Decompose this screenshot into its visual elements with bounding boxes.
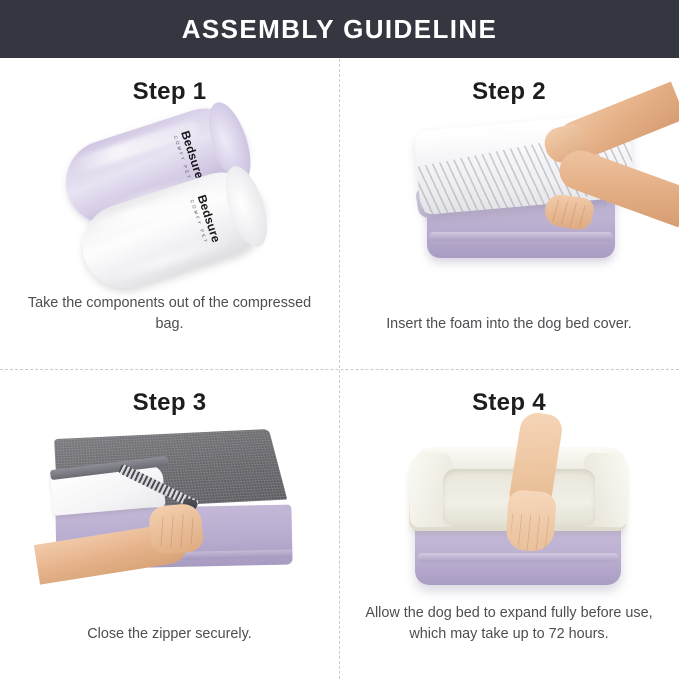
step-card-4: Step 4 Allow the dog bed to expand fully… [339, 369, 679, 679]
step-3-illustration [0, 421, 339, 631]
assembly-guideline-page: ASSEMBLY GUIDELINE Step 1 Bedsure COMFY … [0, 0, 679, 679]
step-3-caption: Close the zipper securely. [18, 624, 321, 645]
step-1-illustration: Bedsure COMFY PET Bedsure COMFY PET [0, 114, 339, 314]
step-1-caption: Take the components out of the compresse… [18, 293, 321, 335]
step-4-title: Step 4 [339, 389, 679, 417]
bed-base-seam [417, 553, 619, 562]
step-2-illustration [339, 104, 679, 319]
brand-label-white: Bedsure COMFY PET [188, 193, 222, 246]
compressed-rolls-group: Bedsure COMFY PET Bedsure COMFY PET [51, 96, 288, 313]
step-card-3: Step 3 Close the zipper securely. [0, 369, 339, 679]
page-header: ASSEMBLY GUIDELINE [0, 0, 679, 58]
step-3-title: Step 3 [0, 389, 339, 417]
step-card-2: Step 2 Insert the foam into the dog bed … [339, 58, 679, 369]
step-4-caption: Allow the dog bed to expand fully before… [347, 603, 671, 645]
step-4-illustration [339, 419, 679, 634]
brand-label-lavender: Bedsure COMFY PET [171, 129, 205, 182]
cover-seam [429, 232, 613, 241]
step-2-caption: Insert the foam into the dog bed cover. [357, 314, 661, 335]
page-title: ASSEMBLY GUIDELINE [182, 16, 498, 42]
step-card-1: Step 1 Bedsure COMFY PET [0, 58, 339, 369]
step-1-title: Step 1 [0, 78, 339, 106]
horizontal-divider [0, 369, 679, 370]
